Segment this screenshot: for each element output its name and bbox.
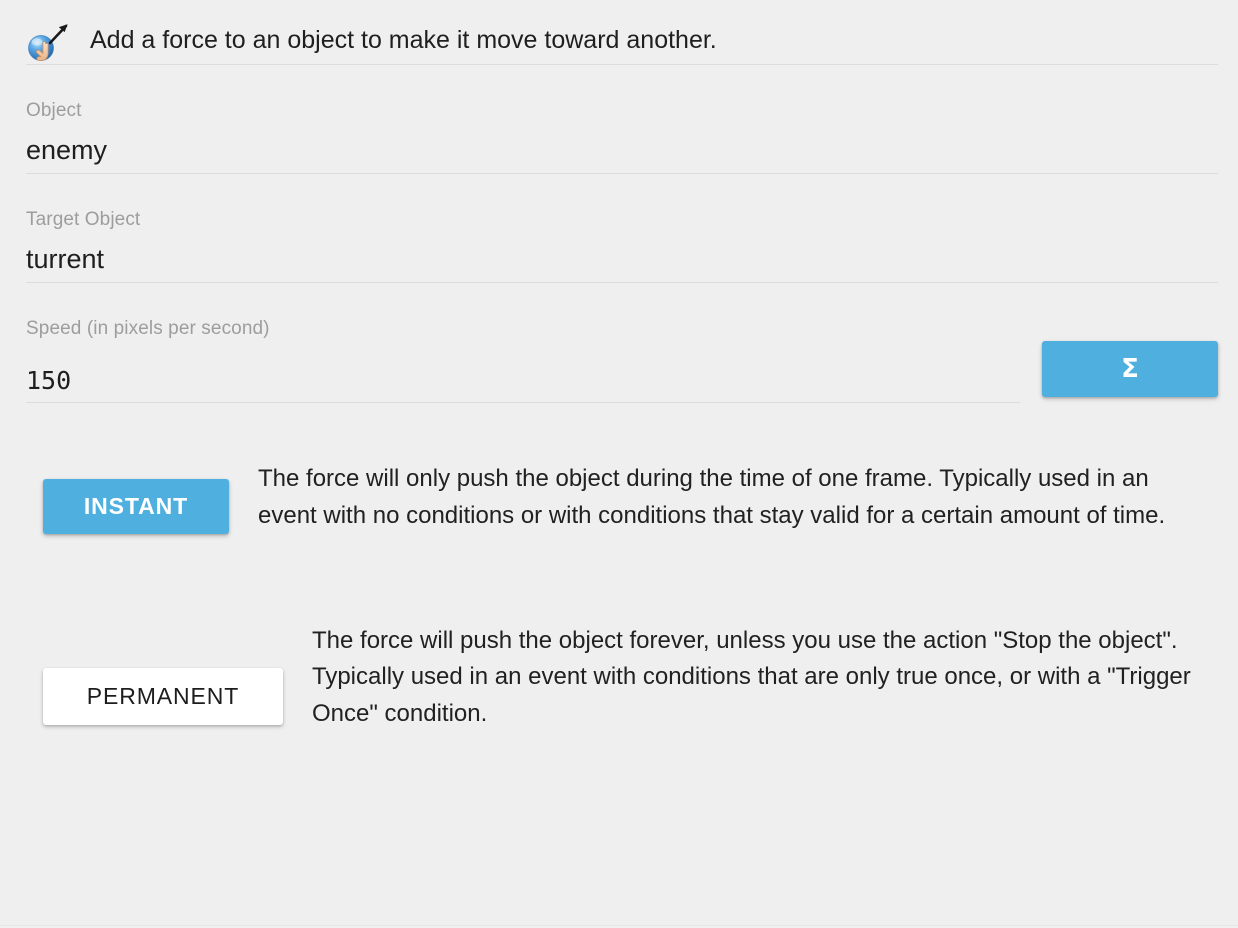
action-header: Add a force to an object to make it move…	[0, 0, 1238, 64]
force-mode-instant-row: INSTANT The force will only push the obj…	[26, 403, 1218, 534]
field-speed: Speed (in pixels per second) 150 Σ	[26, 283, 1218, 403]
field-object: Object enemy	[26, 65, 1218, 174]
add-force-toward-object-icon	[26, 19, 72, 63]
speed-input[interactable]: 150	[26, 355, 1020, 403]
sigma-icon: Σ	[1121, 356, 1139, 382]
field-object-label: Object	[26, 100, 1218, 123]
permanent-button-label: PERMANENT	[87, 685, 240, 708]
bottom-divider	[0, 925, 1238, 926]
instant-description: The force will only push the object duri…	[258, 461, 1218, 534]
speed-input-underline	[26, 402, 1020, 403]
force-mode-options: INSTANT The force will only push the obj…	[0, 403, 1238, 733]
field-target-object-label: Target Object	[26, 209, 1218, 232]
instant-button-label: INSTANT	[84, 495, 188, 518]
field-speed-label: Speed (in pixels per second)	[26, 318, 1218, 341]
target-object-input-underline	[26, 282, 1218, 283]
permanent-button[interactable]: PERMANENT	[43, 668, 283, 725]
field-target-object: Target Object turrent	[26, 174, 1218, 283]
object-input-underline	[26, 173, 1218, 174]
instant-button[interactable]: INSTANT	[43, 479, 229, 534]
parameters-form: Object enemy Target Object turrent Speed…	[0, 65, 1238, 403]
permanent-description: The force will push the object forever, …	[312, 623, 1218, 733]
force-mode-permanent-row: PERMANENT The force will push the object…	[26, 535, 1218, 733]
target-object-input[interactable]: turrent	[26, 232, 1218, 282]
object-input[interactable]: enemy	[26, 123, 1218, 173]
page-title: Add a force to an object to make it move…	[90, 27, 717, 55]
expression-editor-button[interactable]: Σ	[1042, 341, 1218, 397]
